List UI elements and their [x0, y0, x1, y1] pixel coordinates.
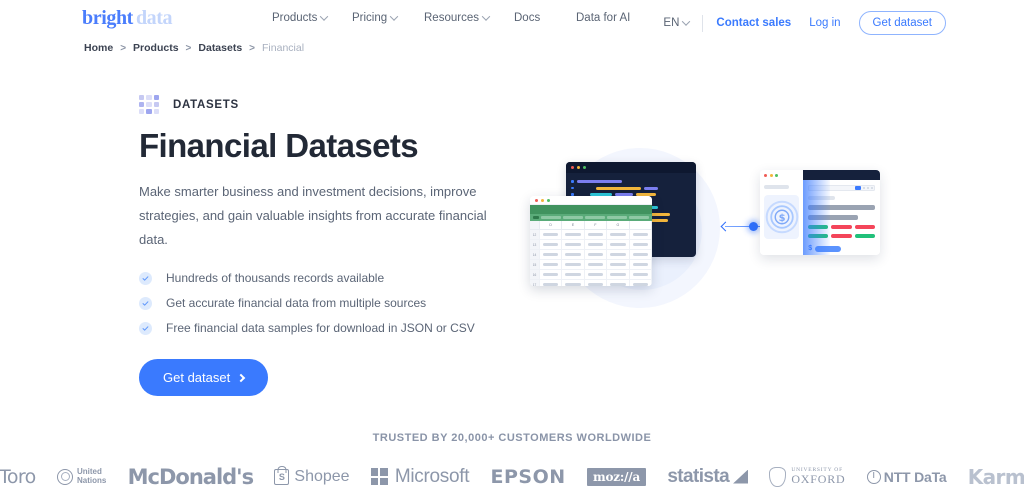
nav-item-docs[interactable]: Docs [514, 12, 576, 24]
chevron-down-icon [390, 12, 398, 20]
close-dot-icon [571, 166, 574, 169]
table-cell [585, 250, 607, 260]
list-item: Get accurate financial data from multipl… [139, 296, 519, 310]
breadcrumb-separator: > [186, 43, 192, 54]
arrow-left-icon [721, 221, 731, 231]
statista-wordmark: statista [667, 466, 729, 488]
un-line-2: Nations [77, 477, 106, 485]
table-cell [585, 280, 607, 286]
contact-sales-link[interactable]: Contact sales [716, 17, 791, 29]
grid-icon [139, 95, 159, 114]
logo-microsoft: Microsoft [371, 466, 469, 488]
table-cell [562, 260, 584, 270]
microsoft-squares-icon [371, 468, 388, 485]
nav-label-docs: Docs [514, 12, 540, 24]
language-selector[interactable]: EN [663, 17, 689, 29]
table-cell [630, 240, 652, 250]
close-dot-icon [535, 199, 538, 202]
row-header: 16 [530, 270, 540, 280]
table-cell [585, 260, 607, 270]
brand-logo-bold: bright [82, 7, 133, 29]
status-chip-negative [855, 225, 875, 229]
column-header: F [585, 221, 607, 230]
shopping-bag-icon: S [274, 469, 289, 485]
table-cell [607, 270, 629, 280]
dollar-coin-icon: $ [764, 199, 799, 235]
table-cell [562, 280, 584, 286]
search-icon [855, 186, 861, 191]
maximize-dot-icon [547, 199, 550, 202]
check-icon [139, 322, 152, 335]
table-cell [540, 230, 562, 240]
logo-united-nations: United Nations [57, 468, 106, 485]
list-item: Hundreds of thousands records available [139, 271, 519, 285]
hero-content: DATASETS Financial Datasets Make smarter… [139, 95, 519, 396]
titlebar-fill [803, 170, 880, 180]
datasets-badge: DATASETS [139, 95, 519, 114]
oxford-wordmark: UNIVERSITY OF OXFORD [791, 467, 845, 486]
list-item: Free financial data samples for download… [139, 321, 519, 335]
breadcrumb-separator: > [249, 43, 255, 54]
shopee-mark: S [279, 472, 285, 482]
microsoft-wordmark: Microsoft [395, 466, 469, 488]
logo-ntt-data: NTT DaTa [867, 469, 947, 485]
row-header: 13 [530, 240, 540, 250]
row-header: 17 [530, 280, 540, 286]
table-cell [607, 260, 629, 270]
logo-oxford: UNIVERSITY OF OXFORD [769, 467, 845, 487]
ntt-power-icon [867, 470, 881, 484]
status-chip-negative [831, 225, 851, 229]
maximize-dot-icon [583, 166, 586, 169]
feature-text: Get accurate financial data from multipl… [166, 296, 426, 310]
table-cell [607, 230, 629, 240]
close-dot-icon [764, 174, 767, 177]
window-titlebar [760, 170, 880, 180]
maximize-dot-icon [775, 174, 778, 177]
breadcrumb-item-datasets[interactable]: Datasets [198, 42, 242, 54]
table-cell [607, 250, 629, 260]
table-cell [630, 230, 652, 240]
language-label: EN [663, 17, 679, 29]
customer-logo-strip: eToro United Nations McDonald's S Shopee… [0, 458, 1024, 495]
minimize-dot-icon [541, 199, 544, 202]
connector-dot [749, 222, 758, 231]
row-header: 14 [530, 250, 540, 260]
nav-label-resources: Resources [424, 12, 479, 24]
logo-epson: EPSON [491, 466, 566, 488]
breadcrumb-item-financial: Financial [262, 42, 304, 54]
breadcrumb-item-home[interactable]: Home [84, 42, 113, 54]
spreadsheet-grid: D E F G 12 13 14 [530, 221, 652, 286]
chevron-down-icon [482, 12, 490, 20]
table-cell [630, 260, 652, 270]
table-cell [630, 280, 652, 286]
page-title: Financial Datasets [139, 128, 519, 164]
minimize-dot-icon [577, 166, 580, 169]
logo-shopee: S Shopee [274, 468, 349, 486]
row-header: 12 [530, 230, 540, 240]
browser-window-illustration: $ [760, 170, 880, 255]
browser-body: $ [760, 180, 880, 255]
oxford-crest-icon [769, 467, 786, 487]
blue-gradient-overlay [803, 180, 829, 255]
nav-item-data-for-ai[interactable]: Data for AI [576, 12, 630, 24]
dot-icon [867, 187, 869, 189]
table-cell [562, 250, 584, 260]
log-in-link[interactable]: Log in [809, 17, 840, 29]
nav-label-data-for-ai: Data for AI [576, 12, 630, 24]
table-cell [540, 280, 562, 286]
nav-item-resources[interactable]: Resources [424, 12, 514, 24]
svg-text:$: $ [778, 213, 785, 224]
brand-logo-light: data [136, 7, 172, 29]
nav-label-products: Products [272, 12, 317, 24]
status-chip-negative [831, 234, 851, 238]
table-cell [562, 270, 584, 280]
table-cell [540, 240, 562, 250]
column-header: D [540, 221, 562, 230]
main-nav: Products Pricing Resources Docs Data for… [272, 12, 630, 24]
column-header: G [607, 221, 629, 230]
hero-illustration: D E F G 12 13 14 [520, 140, 920, 340]
chevron-down-icon [320, 12, 328, 20]
breadcrumb-item-products[interactable]: Products [133, 42, 179, 54]
dot-icon [871, 187, 873, 189]
dot-icon [863, 187, 865, 189]
statista-triangle-icon [733, 470, 748, 484]
get-dataset-button[interactable]: Get dataset [139, 359, 268, 396]
hero-subtitle: Make smarter business and investment dec… [139, 180, 507, 252]
nav-label-pricing: Pricing [352, 12, 387, 24]
get-dataset-button-label: Get dataset [163, 370, 230, 385]
hero-section: DATASETS Financial Datasets Make smarter… [0, 95, 1024, 385]
nav-item-pricing[interactable]: Pricing [352, 12, 424, 24]
logo-etoro: eToro [2, 466, 36, 488]
logo-mozilla: moz://a [587, 468, 646, 486]
column-header: E [562, 221, 584, 230]
column-header [630, 221, 652, 230]
coin-graphic: $ [764, 195, 799, 239]
ntt-data-wordmark: NTT DaTa [884, 469, 947, 485]
check-icon [139, 297, 152, 310]
table-cell [585, 270, 607, 280]
feature-text: Free financial data samples for download… [166, 321, 475, 335]
site-header: brightdata Products Pricing Resources Do… [0, 0, 1024, 36]
united-nations-wordmark: United Nations [77, 468, 106, 485]
logo-karma: Karma [968, 465, 1022, 489]
table-cell [540, 260, 562, 270]
header-divider [702, 15, 703, 32]
feature-list: Hundreds of thousands records available … [139, 271, 519, 335]
brand-logo[interactable]: brightdata [82, 7, 172, 30]
table-cell [585, 240, 607, 250]
breadcrumb: Home > Products > Datasets > Financial [84, 42, 304, 54]
table-cell [585, 230, 607, 240]
etoro-wordmark: eToro [0, 466, 36, 488]
table-cell [540, 270, 562, 280]
feature-text: Hundreds of thousands records available [166, 271, 384, 285]
status-chip-positive [855, 234, 875, 238]
nav-item-products[interactable]: Products [272, 12, 352, 24]
spreadsheet-toolbar [530, 214, 652, 221]
browser-sidebar: $ [760, 180, 803, 255]
window-titlebar [530, 196, 652, 205]
logo-statista: statista [667, 466, 748, 488]
titlebar-dots [760, 170, 803, 180]
table-cell [540, 250, 562, 260]
window-titlebar [566, 162, 696, 173]
column-header-corner [530, 221, 540, 230]
chevron-right-icon [237, 374, 245, 382]
table-cell [562, 230, 584, 240]
minimize-dot-icon [770, 174, 773, 177]
trusted-heading: TRUSTED BY 20,000+ CUSTOMERS WORLDWIDE [0, 432, 1024, 444]
badge-label: DATASETS [173, 99, 239, 111]
mcdonalds-wordmark: McDonald's [128, 465, 254, 489]
spreadsheet-header-bar [530, 205, 652, 214]
mozilla-wordmark: moz://a [587, 468, 646, 486]
table-cell [562, 240, 584, 250]
karma-wordmark: Karma [968, 465, 1024, 489]
get-dataset-nav-button[interactable]: Get dataset [859, 11, 946, 35]
table-cell [630, 250, 652, 260]
chevron-down-icon [682, 17, 690, 25]
table-cell [607, 240, 629, 250]
united-nations-emblem-icon [57, 469, 73, 485]
check-icon [139, 272, 152, 285]
shopee-wordmark: Shopee [294, 468, 349, 486]
header-actions: EN Contact sales Log in Get dataset [663, 11, 946, 35]
epson-wordmark: EPSON [491, 466, 566, 488]
spreadsheet-window-illustration: D E F G 12 13 14 [530, 196, 652, 286]
oxford-line-2: OXFORD [791, 473, 845, 486]
sidebar-placeholder [764, 185, 789, 189]
table-cell [607, 280, 629, 286]
table-cell [630, 270, 652, 280]
row-header: 15 [530, 260, 540, 270]
breadcrumb-separator: > [120, 43, 126, 54]
page-root: brightdata Products Pricing Resources Do… [0, 0, 1024, 495]
logo-mcdonalds: McDonald's [128, 465, 254, 489]
